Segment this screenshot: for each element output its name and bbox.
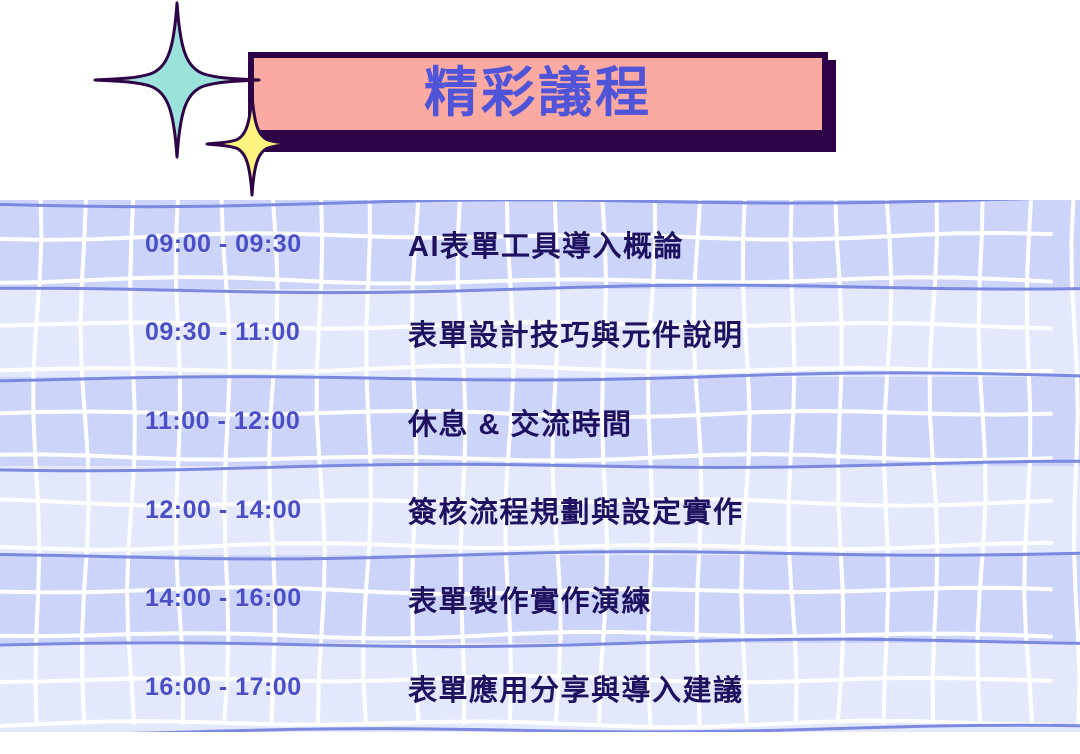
- session-title: 表單應用分享與導入建議: [408, 667, 744, 709]
- session-time: 09:00 - 09:30: [145, 230, 302, 259]
- schedule-row[interactable]: 16:00 - 17:00表單應用分享與導入建議: [0, 643, 1080, 732]
- session-title: 休息 & 交流時間: [408, 401, 633, 443]
- sparkle-star-yellow: [205, 92, 297, 197]
- session-title: 簽核流程規劃與設定實作: [408, 489, 744, 531]
- session-title: 表單製作實作演練: [408, 578, 652, 620]
- page-title: 精彩議程: [424, 66, 652, 120]
- session-time: 09:30 - 11:00: [145, 318, 300, 347]
- session-time: 14:00 - 16:00: [145, 584, 302, 613]
- slide-canvas: 09:00 - 09:30AI表單工具導入概論09:30 - 11:00表單設計…: [0, 0, 1080, 754]
- session-time: 16:00 - 17:00: [145, 673, 302, 702]
- schedule-row[interactable]: 09:00 - 09:30AI表單工具導入概論: [0, 200, 1080, 289]
- schedule-rows: 09:00 - 09:30AI表單工具導入概論09:30 - 11:00表單設計…: [0, 200, 1080, 732]
- schedule-table: 09:00 - 09:30AI表單工具導入概論09:30 - 11:00表單設計…: [0, 200, 1080, 732]
- banner-fill: 精彩議程: [254, 58, 822, 130]
- schedule-row[interactable]: 09:30 - 11:00表單設計技巧與元件說明: [0, 289, 1080, 378]
- title-banner: 精彩議程: [248, 52, 836, 152]
- session-title: AI表單工具導入概論: [408, 223, 684, 265]
- session-title: 表單設計技巧與元件說明: [408, 312, 744, 354]
- banner-frame: 精彩議程: [248, 52, 828, 144]
- schedule-row[interactable]: 12:00 - 14:00簽核流程規劃與設定實作: [0, 466, 1080, 555]
- schedule-row[interactable]: 14:00 - 16:00表單製作實作演練: [0, 555, 1080, 644]
- session-time: 11:00 - 12:00: [145, 407, 300, 436]
- session-time: 12:00 - 14:00: [145, 496, 302, 525]
- schedule-row[interactable]: 11:00 - 12:00休息 & 交流時間: [0, 377, 1080, 466]
